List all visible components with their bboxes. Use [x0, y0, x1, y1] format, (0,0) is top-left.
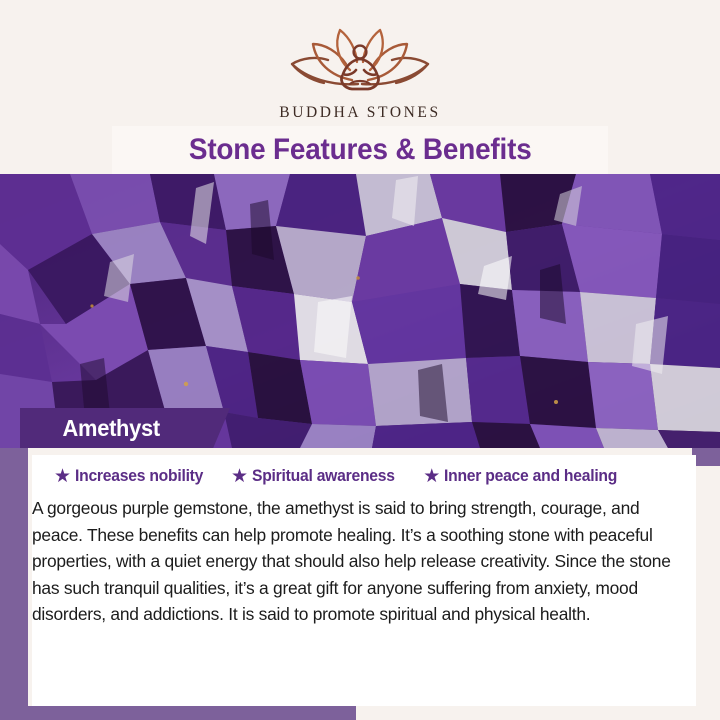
content-panel: ★ Increases nobility ★ Spiritual awarene… [32, 455, 696, 706]
page-title: Stone Features & Benefits [189, 133, 532, 167]
star-icon: ★ [423, 467, 440, 486]
benefit-item: ★ Inner peace and healing [423, 467, 626, 486]
stone-name-banner: Amethyst [20, 408, 230, 448]
benefit-label: Increases nobility [75, 467, 203, 486]
benefit-label: Inner peace and healing [444, 467, 617, 486]
brand-logo: BUDDHA STONES [0, 24, 720, 122]
stone-photo [0, 174, 720, 448]
star-icon: ★ [54, 467, 71, 486]
brand-name: BUDDHA STONES [0, 104, 720, 122]
frame-bottom-bar [0, 706, 356, 720]
page-title-band: Stone Features & Benefits [112, 126, 608, 174]
benefit-item: ★ Increases nobility [54, 467, 210, 486]
lotus-meditation-icon [280, 24, 440, 100]
benefit-item: ★ Spiritual awareness [231, 467, 402, 486]
stone-info-card: BUDDHA STONES Stone Features & Benefits [0, 0, 720, 720]
frame-left-bar [0, 440, 28, 706]
benefit-label: Spiritual awareness [252, 467, 395, 486]
benefits-row: ★ Increases nobility ★ Spiritual awarene… [32, 455, 696, 486]
stone-name: Amethyst [63, 415, 160, 442]
amethyst-crystal-cluster-photo [0, 174, 720, 448]
stone-description: A gorgeous purple gemstone, the amethyst… [32, 495, 676, 628]
star-icon: ★ [231, 467, 248, 486]
